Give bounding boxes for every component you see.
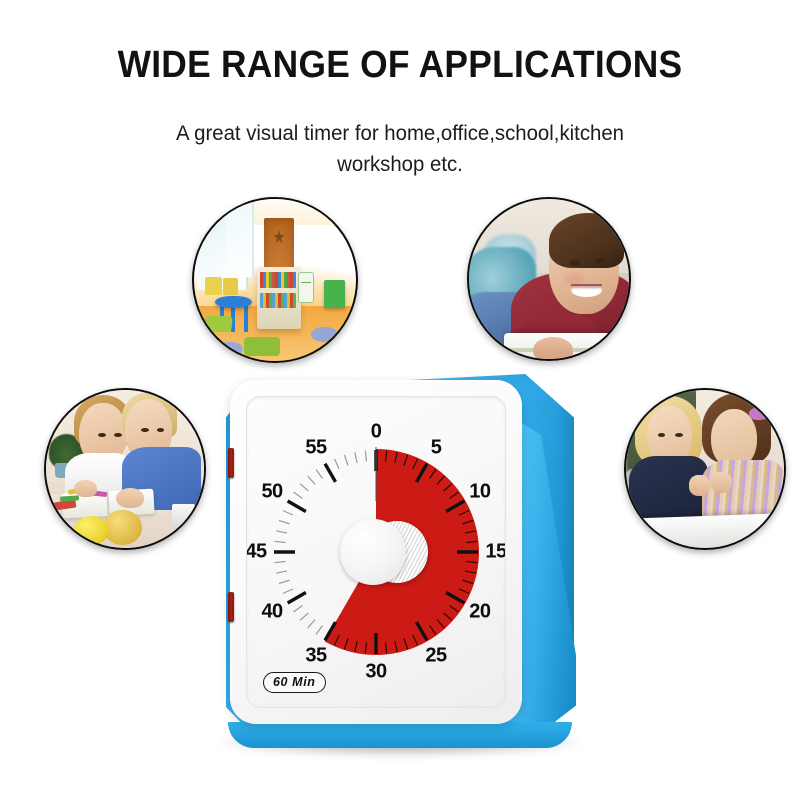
page-subtitle: A great visual timer for home,office,sch… [109, 118, 691, 180]
dial-minor-tick [276, 571, 287, 573]
dial-minor-tick [365, 451, 366, 462]
device-base [228, 722, 572, 748]
dial-major-tick [325, 464, 336, 482]
dial-major-tick [288, 593, 306, 604]
dial-number-30: 30 [365, 661, 386, 684]
dial-minor-tick [279, 520, 289, 523]
dial-number-15: 15 [485, 541, 506, 564]
timer-face: 0510152025303540455055 60 Min [246, 396, 506, 708]
dial-minor-tick [293, 605, 302, 611]
dial-minor-tick [279, 580, 289, 583]
subtitle-line-1: A great visual timer for home,office,sch… [176, 122, 624, 145]
dial-minor-tick [308, 620, 315, 628]
dial-minor-tick [300, 613, 308, 620]
dial-minor-tick [300, 484, 308, 491]
dial-minor-tick [293, 492, 302, 498]
dial-number-45: 45 [246, 541, 267, 564]
dial-number-0: 0 [371, 421, 382, 444]
dial-number-55: 55 [305, 437, 326, 460]
dial-number-5: 5 [431, 437, 442, 460]
dial-number-10: 10 [469, 481, 490, 504]
dial-minor-tick [335, 459, 339, 469]
mode-button[interactable] [228, 592, 234, 622]
subtitle-line-2: workshop etc. [337, 153, 463, 176]
dial-minor-tick [283, 589, 293, 593]
visual-timer-device: 0510152025303540455055 60 Min [206, 362, 596, 762]
timer-knob[interactable] [340, 519, 406, 585]
photo-library: children's library reading room with boo… [192, 197, 358, 363]
dial-number-20: 20 [469, 601, 490, 624]
dial-major-tick [288, 501, 306, 512]
dial-minor-tick [276, 531, 287, 533]
start-stop-button[interactable] [228, 448, 234, 478]
page-title: WIDE RANGE OF APPLICATIONS [28, 44, 772, 87]
dial-minor-tick [355, 452, 357, 463]
dial-minor-tick [316, 469, 322, 478]
photo-boy-reading: smiling boy in maroon shirt reading a bo… [467, 197, 631, 361]
dial-number-50: 50 [261, 481, 282, 504]
dial-minor-tick [344, 455, 347, 465]
timer-dial[interactable]: 0510152025303540455055 [261, 437, 491, 667]
capacity-badge: 60 Min [263, 672, 326, 693]
marketing-banner: WIDE RANGE OF APPLICATIONS A great visua… [0, 0, 800, 800]
dial-minor-tick [283, 511, 293, 515]
photo-girls-tablet: two schoolgirls looking at a tablet in a… [624, 388, 786, 550]
photo-kids-drawing: girl and boy drawing with markers at a t… [44, 388, 206, 550]
dial-minor-tick [275, 541, 286, 542]
dial-minor-tick [308, 476, 315, 484]
dial-number-40: 40 [261, 601, 282, 624]
dial-number-25: 25 [425, 644, 446, 667]
dial-minor-tick [316, 626, 322, 635]
dial-number-35: 35 [305, 644, 326, 667]
dial-minor-tick [275, 562, 286, 563]
